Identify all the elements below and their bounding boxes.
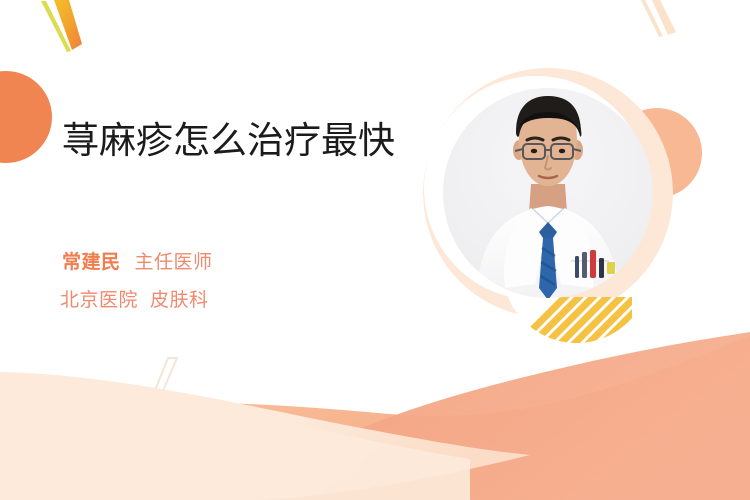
- text-content: 荨麻疹怎么治疗最快 常建民主任医师 北京医院皮肤科: [0, 0, 750, 500]
- doctor-name: 常建民: [62, 252, 121, 273]
- doctor-affiliation-row: 北京医院皮肤科: [60, 288, 209, 314]
- page-title: 荨麻疹怎么治疗最快: [62, 118, 407, 164]
- doctor-title: 主任医师: [135, 252, 213, 273]
- doctor-hospital: 北京医院: [60, 290, 138, 311]
- doctor-department: 皮肤科: [150, 290, 209, 311]
- doctor-name-row: 常建民主任医师: [62, 250, 213, 276]
- medical-info-card: 荨麻疹怎么治疗最快 常建民主任医师 北京医院皮肤科: [0, 0, 750, 500]
